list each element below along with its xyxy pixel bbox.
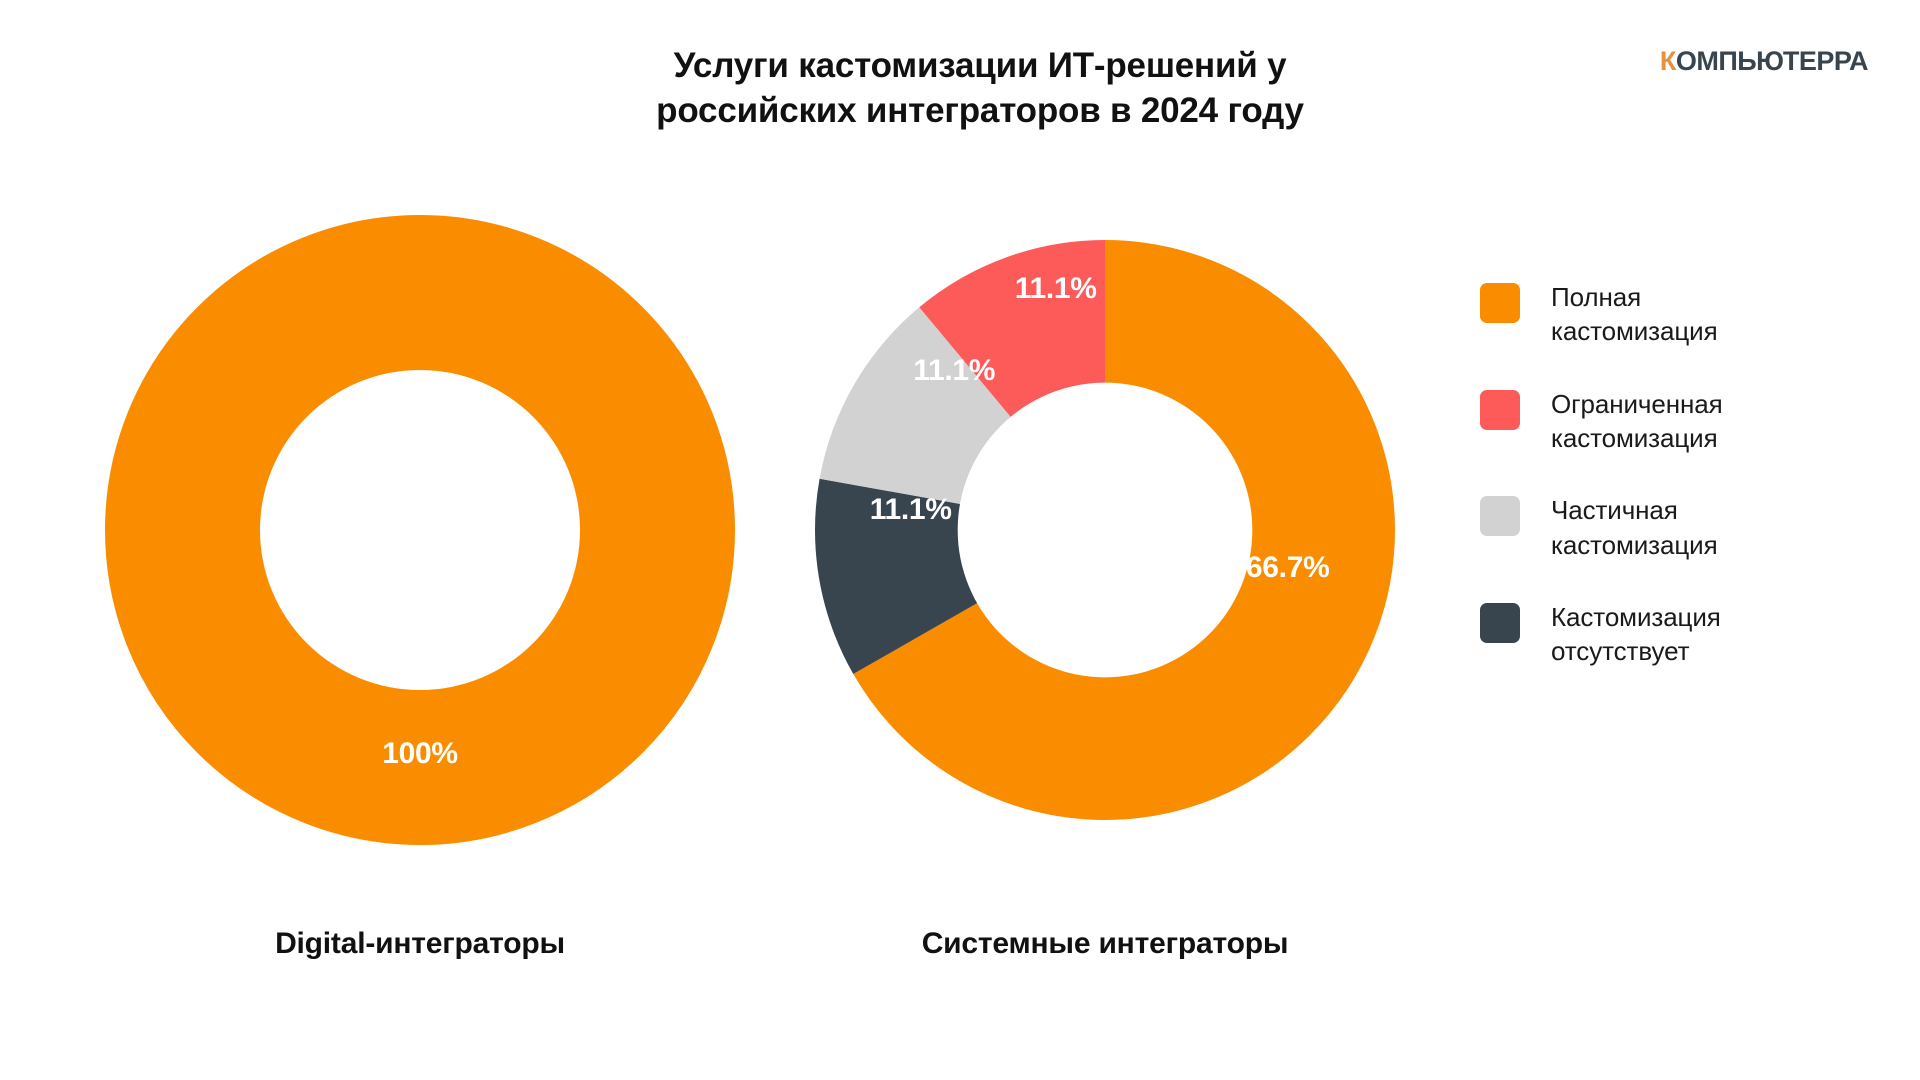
- donut-caption-system: Системные интеграторы: [790, 927, 1420, 961]
- brand-logo: КОМПЬЮТЕРРА: [1660, 48, 1868, 75]
- donut-panel-digital: 100% Digital-интеграторы: [105, 215, 735, 845]
- legend-item-limited[interactable]: Ограниченная кастомизация: [1480, 387, 1880, 456]
- donut-chart-system: 66.7% 11.1% 11.1% 11.1%: [815, 240, 1395, 820]
- legend-label-none: Кастомизация отсутствует: [1551, 600, 1721, 669]
- donut-chart-digital: 100%: [105, 215, 735, 845]
- legend: Полная кастомизация Ограниченная кастоми…: [1480, 280, 1880, 669]
- legend-item-none[interactable]: Кастомизация отсутствует: [1480, 600, 1880, 669]
- donut-svg-digital: [105, 215, 735, 845]
- legend-label-full: Полная кастомизация: [1551, 280, 1718, 349]
- brand-logo-initial: К: [1660, 46, 1676, 76]
- legend-label-limited: Ограниченная кастомизация: [1551, 387, 1723, 456]
- legend-swatch-full-icon: [1480, 283, 1520, 323]
- page-title: Услуги кастомизации ИТ-решений у российс…: [380, 44, 1580, 134]
- donut-hole-system: [958, 383, 1253, 678]
- legend-label-partial: Частичная кастомизация: [1551, 493, 1718, 562]
- donut-panel-system: 66.7% 11.1% 11.1% 11.1% Системные интегр…: [790, 240, 1420, 820]
- brand-logo-rest: ОМПЬЮТЕРРА: [1676, 46, 1868, 76]
- legend-swatch-partial-icon: [1480, 496, 1520, 536]
- donut-svg-system: [815, 240, 1395, 820]
- donut-hole-digital: [260, 370, 580, 690]
- legend-item-full[interactable]: Полная кастомизация: [1480, 280, 1880, 349]
- legend-swatch-none-icon: [1480, 603, 1520, 643]
- legend-swatch-limited-icon: [1480, 390, 1520, 430]
- legend-item-partial[interactable]: Частичная кастомизация: [1480, 493, 1880, 562]
- donut-caption-digital: Digital-интеграторы: [105, 927, 735, 961]
